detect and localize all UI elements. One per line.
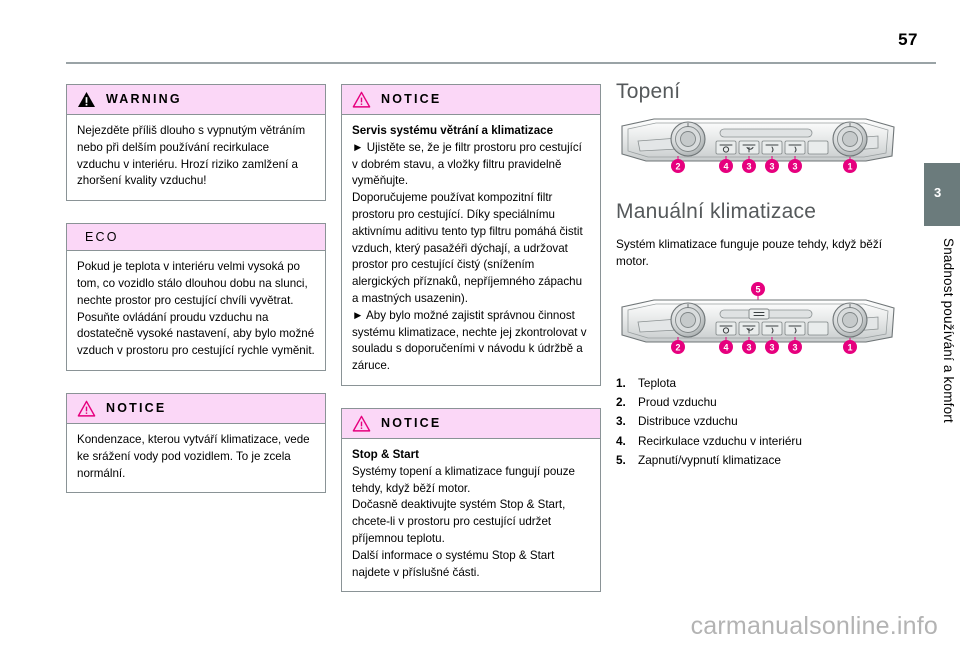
svg-text:3: 3 bbox=[769, 161, 774, 171]
callout-notice-stop-start-paragraph-3: Další informace o systému Stop & Start n… bbox=[352, 548, 590, 582]
svg-text:3: 3 bbox=[769, 343, 774, 353]
svg-text:2: 2 bbox=[675, 343, 680, 353]
chapter-tab-label: Snadnost používání a komfort bbox=[941, 238, 956, 423]
callout-notice-service-header: NOTICE bbox=[342, 85, 600, 115]
svg-text:4: 4 bbox=[723, 343, 728, 353]
callout-eco-title: ECO bbox=[77, 231, 119, 244]
callout-eco-body: Pokud je teplota v interiéru velmi vysok… bbox=[67, 251, 325, 370]
notice-triangle-outline-icon bbox=[352, 415, 371, 432]
heating-control-panel-figure: 2 4 3 3 3 1 bbox=[616, 116, 916, 178]
chapter-tab-number: 3 bbox=[934, 185, 941, 200]
legend-label-5: Zapnutí/vypnutí klimatizace bbox=[638, 451, 781, 470]
callout-eco-paragraph: Pokud je teplota v interiéru velmi vysok… bbox=[77, 259, 315, 360]
legend-label-4: Recirkulace vzduchu v interiéru bbox=[638, 432, 802, 451]
content-column-2: NOTICE Servis systému větrání a klimatiz… bbox=[341, 84, 601, 614]
list-item: 4. Recirkulace vzduchu v interiéru bbox=[616, 432, 916, 451]
svg-text:3: 3 bbox=[792, 161, 797, 171]
callout-notice-stop-start-paragraph-2: Dočasně deaktivujte systém Stop & Start,… bbox=[352, 497, 590, 547]
svg-text:2: 2 bbox=[675, 161, 680, 171]
callout-warning-body: Nejezděte příliš dlouho s vypnutým větrá… bbox=[67, 115, 325, 200]
manual-ac-control-panel-figure: 5 bbox=[616, 280, 916, 358]
svg-text:1: 1 bbox=[847, 161, 852, 171]
list-item: 3. Distribuce vzduchu bbox=[616, 412, 916, 431]
callout-notice-stop-start-body: Stop & Start Systémy topení a klimatizac… bbox=[342, 439, 600, 591]
callout-warning-paragraph: Nejezděte příliš dlouho s vypnutým větrá… bbox=[77, 123, 315, 190]
legend-label-2: Proud vzduchu bbox=[638, 393, 717, 412]
callout-notice-condensation-paragraph: Kondenzace, kterou vytváří klimatizace, … bbox=[77, 432, 315, 482]
legend-label-1: Teplota bbox=[638, 374, 676, 393]
header-divider bbox=[66, 62, 936, 64]
callout-notice-condensation-header: NOTICE bbox=[67, 394, 325, 424]
page-number: 57 bbox=[898, 30, 918, 50]
callout-notice-stop-start-header: NOTICE bbox=[342, 409, 600, 439]
notice-triangle-outline-icon bbox=[77, 400, 96, 417]
callout-notice-service-subtitle: Servis systému větrání a klimatizace bbox=[352, 123, 590, 140]
callout-notice-condensation-title: NOTICE bbox=[106, 402, 166, 415]
callout-eco-header: ECO bbox=[67, 224, 325, 251]
warning-triangle-solid-icon bbox=[77, 91, 96, 108]
site-watermark: carmanualsonline.info bbox=[691, 612, 938, 641]
legend-number-1: 1. bbox=[616, 374, 630, 393]
legend-label-3: Distribuce vzduchu bbox=[638, 412, 738, 431]
legend-number-5: 5. bbox=[616, 451, 630, 470]
svg-text:5: 5 bbox=[755, 285, 760, 295]
svg-text:3: 3 bbox=[792, 343, 797, 353]
callout-notice-condensation-body: Kondenzace, kterou vytváří klimatizace, … bbox=[67, 424, 325, 492]
callout-eco: ECO Pokud je teplota v interiéru velmi v… bbox=[66, 223, 326, 371]
legend-number-3: 3. bbox=[616, 412, 630, 431]
content-column-3: Topení bbox=[616, 84, 916, 470]
intro-paragraph: Systém klimatizace funguje pouze tehdy, … bbox=[616, 236, 916, 270]
list-item: 5. Zapnutí/vypnutí klimatizace bbox=[616, 451, 916, 470]
callout-notice-stop-start-paragraph-1: Systémy topení a klimatizace fungují pou… bbox=[352, 464, 590, 498]
legend-number-4: 4. bbox=[616, 432, 630, 451]
page-title-topeni: Topení bbox=[616, 80, 916, 104]
heating-control-panel-illustration: 2 4 3 3 3 1 bbox=[616, 116, 900, 178]
content-column-1: WARNING Nejezděte příliš dlouho s vypnut… bbox=[66, 84, 326, 515]
svg-text:3: 3 bbox=[746, 343, 751, 353]
list-item: 2. Proud vzduchu bbox=[616, 393, 916, 412]
svg-text:1: 1 bbox=[847, 343, 852, 353]
callout-notice-service-body: Servis systému větrání a klimatizace ► U… bbox=[342, 115, 600, 385]
page-title-manualni-klimatizace: Manuální klimatizace bbox=[616, 200, 916, 224]
legend-number-2: 2. bbox=[616, 393, 630, 412]
callout-notice-service-paragraph-3: ► Aby bylo možné zajistit správnou činno… bbox=[352, 308, 590, 375]
callout-notice-service: NOTICE Servis systému větrání a klimatiz… bbox=[341, 84, 601, 386]
callout-notice-stop-start-subtitle: Stop & Start bbox=[352, 447, 590, 464]
callout-notice-service-paragraph-2: Doporučujeme používat kompozitní filtr p… bbox=[352, 190, 590, 308]
svg-text:3: 3 bbox=[746, 161, 751, 171]
chapter-tab: 3 bbox=[924, 163, 960, 226]
notice-triangle-outline-icon bbox=[352, 91, 371, 108]
callout-warning: WARNING Nejezděte příliš dlouho s vypnut… bbox=[66, 84, 326, 201]
svg-text:4: 4 bbox=[723, 161, 728, 171]
list-item: 1. Teplota bbox=[616, 374, 916, 393]
manual-ac-control-panel-illustration: 5 bbox=[616, 280, 900, 358]
callout-notice-stop-start-title: NOTICE bbox=[381, 417, 441, 430]
callout-warning-header: WARNING bbox=[67, 85, 325, 115]
callout-notice-service-paragraph-1: ► Ujistěte se, že je filtr prostoru pro … bbox=[352, 140, 590, 190]
callout-notice-condensation: NOTICE Kondenzace, kterou vytváří klimat… bbox=[66, 393, 326, 493]
callout-notice-stop-start: NOTICE Stop & Start Systémy topení a kli… bbox=[341, 408, 601, 592]
callout-warning-title: WARNING bbox=[106, 93, 182, 106]
control-legend-list: 1. Teplota 2. Proud vzduchu 3. Distribuc… bbox=[616, 374, 916, 470]
callout-notice-service-title: NOTICE bbox=[381, 93, 441, 106]
figure-2-callout-5: 5 bbox=[751, 282, 765, 302]
